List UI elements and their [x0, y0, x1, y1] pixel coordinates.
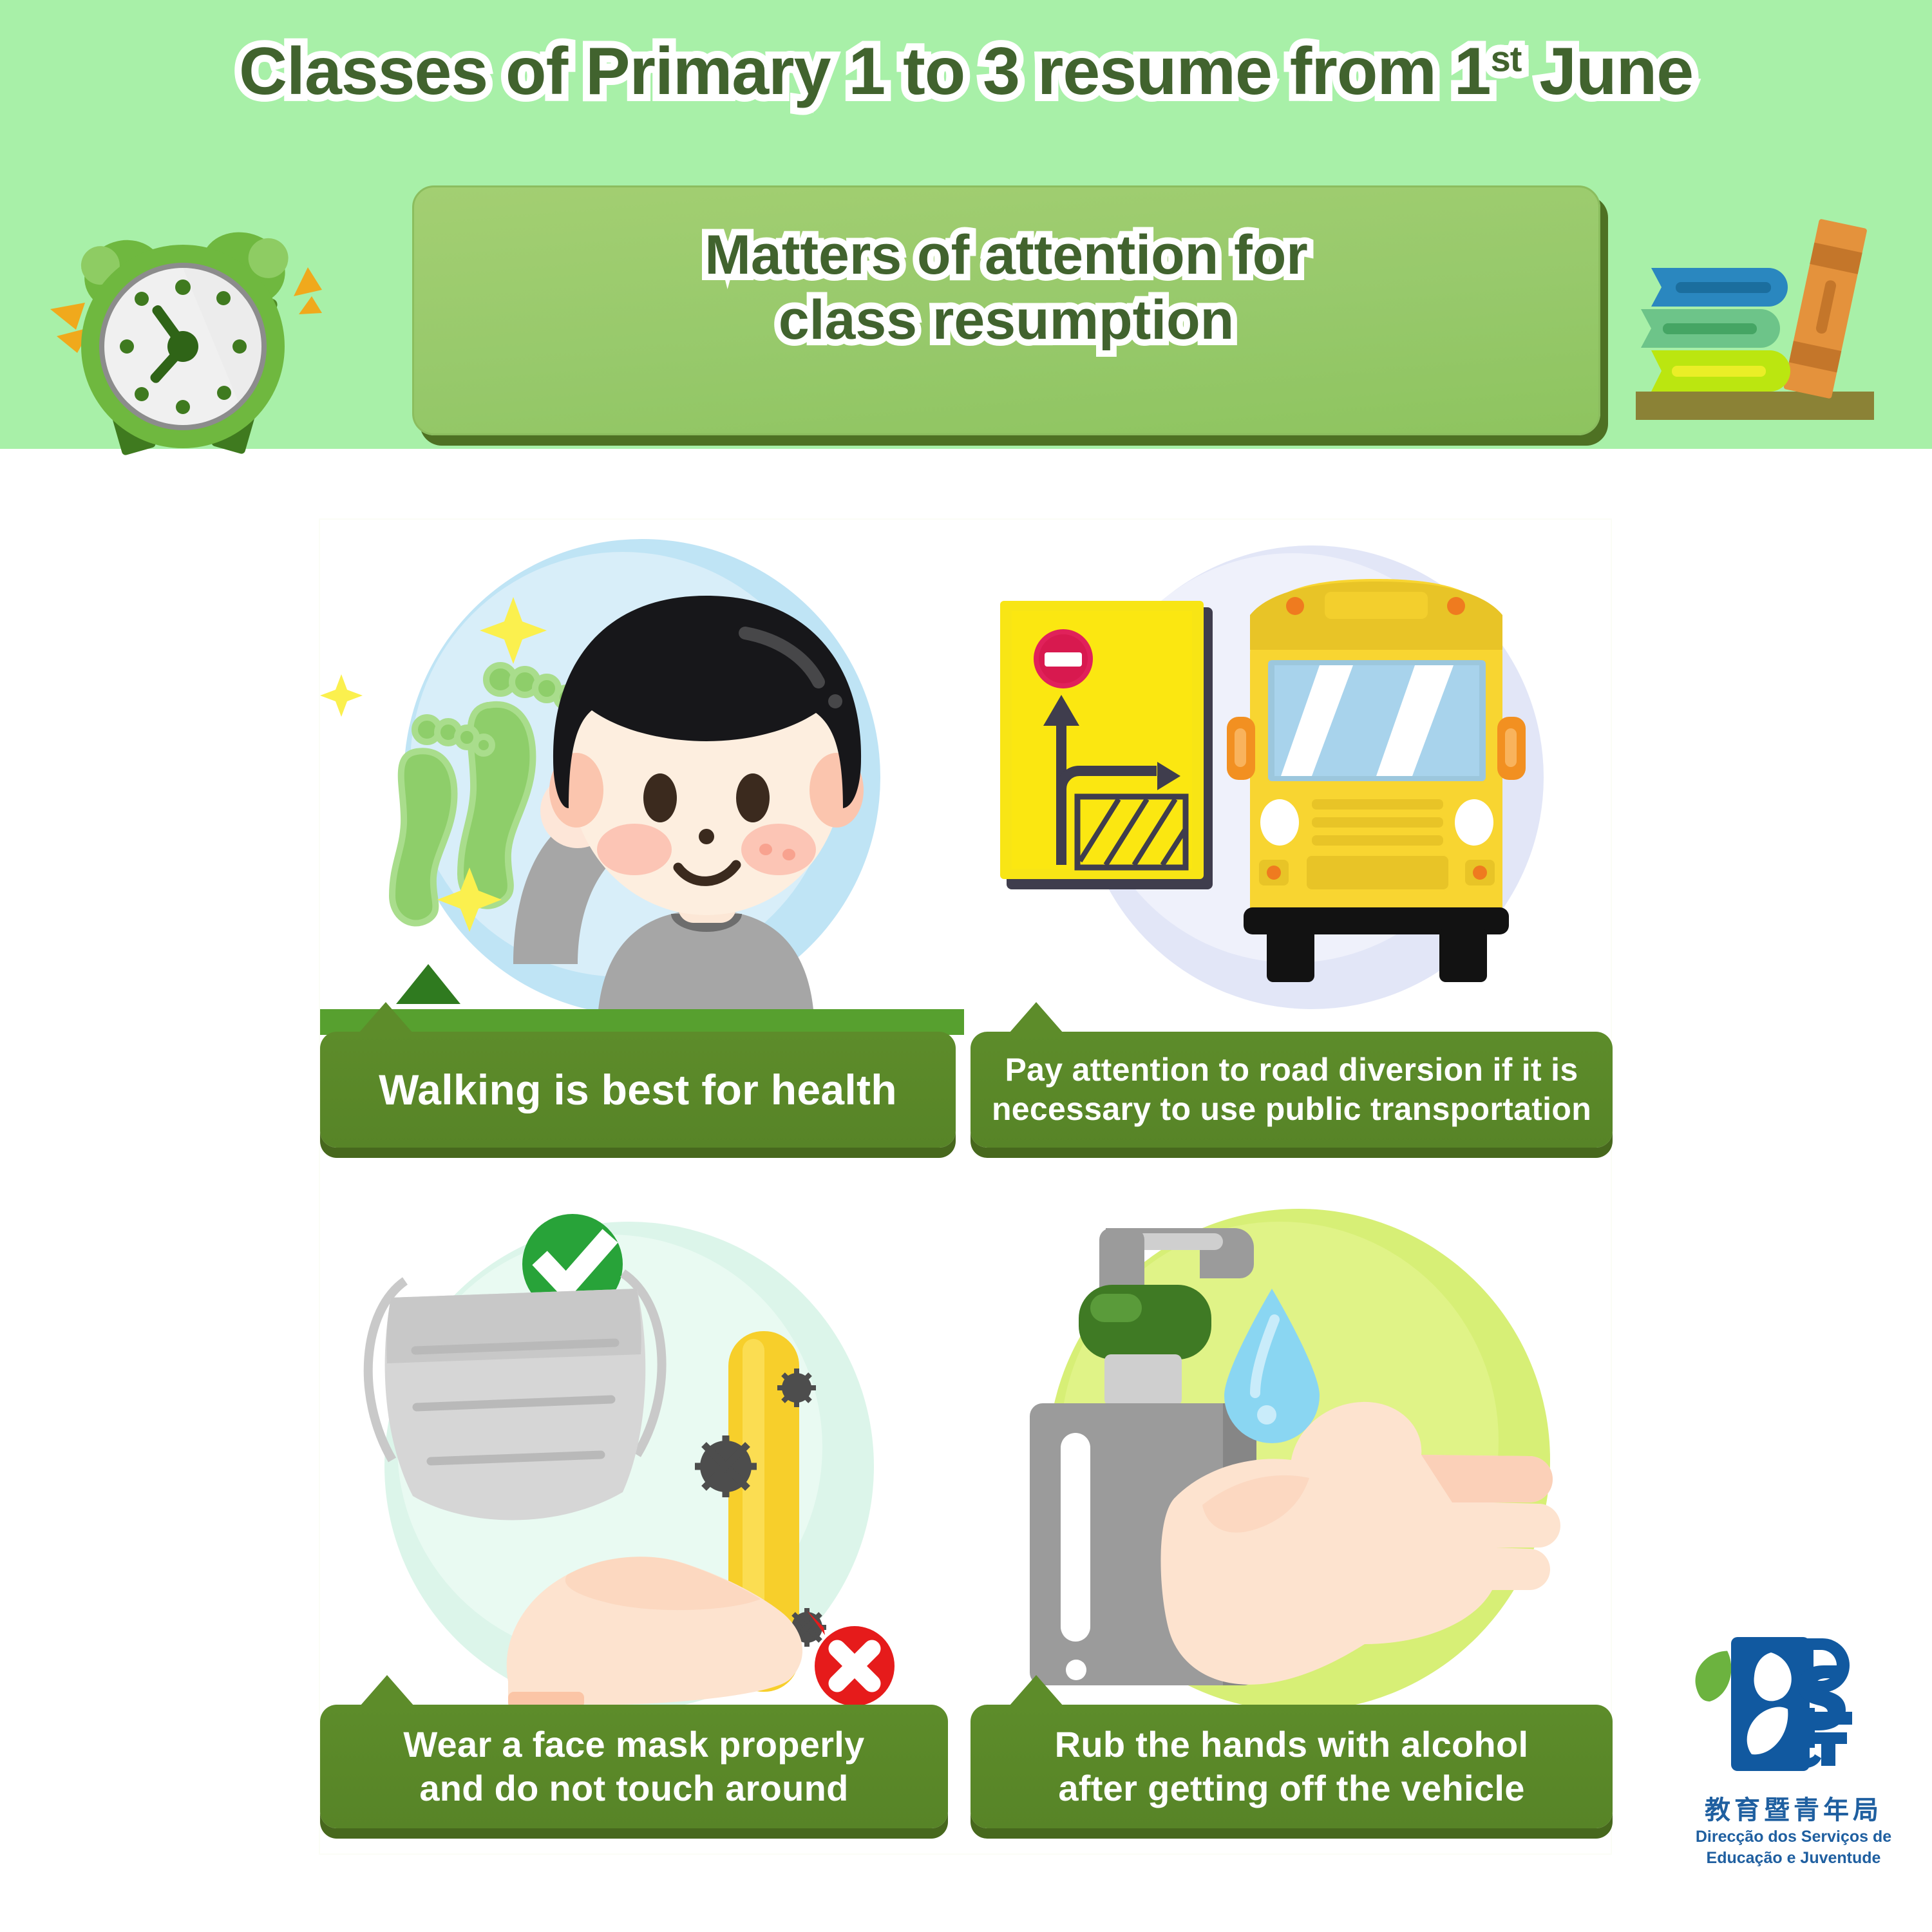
- caption-banner-transport[interactable]: Pay attention to road diversion if it is…: [971, 1032, 1613, 1148]
- caption-line: Rub the hands with alcohol: [1055, 1723, 1529, 1766]
- logo-chinese-name: 教育暨青年局: [1674, 1789, 1913, 1826]
- caption-banner-sanitizer[interactable]: Rub the hands with alcohol after getting…: [971, 1705, 1613, 1828]
- caption-banner-mask[interactable]: Wear a face mask properly and do not tou…: [320, 1705, 948, 1828]
- caption-text-walking: Walking is best for health: [379, 1064, 897, 1116]
- caption-text-transport: Pay attention to road diversion if it is…: [992, 1050, 1591, 1129]
- caption-line: after getting off the vehicle: [1055, 1766, 1529, 1810]
- subtitle-line-2: class resumption: [414, 288, 1598, 353]
- logo-portuguese-line-1: Direcção dos Serviços de: [1674, 1826, 1913, 1848]
- banner-tail-icon: [1009, 1675, 1063, 1706]
- caption-line: Wear a face mask properly: [403, 1723, 864, 1766]
- caption-line: necessary to use public transportation: [992, 1090, 1591, 1129]
- panel-sanitizer: Rub the hands with alcohol after getting…: [971, 1196, 1613, 1853]
- road-diversion-sign-and-school-bus-icon: [990, 539, 1608, 1032]
- content-card: Walking is best for health: [319, 518, 1612, 1855]
- panel-mask: Wear a face mask properly and do not tou…: [320, 1196, 964, 1853]
- subtitle-line-1: Matters of attention for: [414, 223, 1598, 288]
- banner-tail-icon: [360, 1675, 414, 1706]
- hand-sanitizer-bottle-and-hand-icon: [1009, 1202, 1589, 1721]
- alarm-clock-icon: [39, 200, 322, 470]
- banner-tail-icon: [359, 1002, 413, 1033]
- page-title-superscript: st: [1491, 38, 1522, 79]
- boy-waving-with-footprints-icon: [320, 520, 964, 1038]
- caption-banner-walking[interactable]: Walking is best for health: [320, 1032, 956, 1148]
- dsej-logo: 教育暨青年局 Direcção dos Serviços de Educação…: [1674, 1636, 1913, 1913]
- logo-portuguese-line-2: Educação e Juventude: [1674, 1848, 1913, 1869]
- subtitle-text: Matters of attention for class resumptio…: [414, 223, 1598, 354]
- stack-of-books-icon: [1636, 213, 1913, 451]
- banner-tail-icon: [1009, 1002, 1063, 1033]
- panel-transport: Pay attention to road diversion if it is…: [971, 520, 1613, 1164]
- face-mask-with-check-and-cross-icon: [346, 1202, 951, 1734]
- page-title-prefix: Classes of Primary 1 to 3 resume from 1: [239, 34, 1491, 109]
- caption-line: Walking is best for health: [379, 1064, 897, 1116]
- page-title: Classes of Primary 1 to 3 resume from 1s…: [0, 33, 1932, 110]
- caption-line: and do not touch around: [403, 1766, 864, 1810]
- subtitle-box: Matters of attention for class resumptio…: [412, 185, 1600, 435]
- panel-walking: Walking is best for health: [320, 520, 964, 1164]
- page-title-suffix: June: [1521, 34, 1693, 109]
- logo-portuguese-name: Direcção dos Serviços de Educação e Juve…: [1674, 1826, 1913, 1868]
- caption-line: Pay attention to road diversion if it is: [992, 1050, 1591, 1090]
- caption-text-mask: Wear a face mask properly and do not tou…: [403, 1723, 864, 1811]
- caption-text-sanitizer: Rub the hands with alcohol after getting…: [1055, 1723, 1529, 1811]
